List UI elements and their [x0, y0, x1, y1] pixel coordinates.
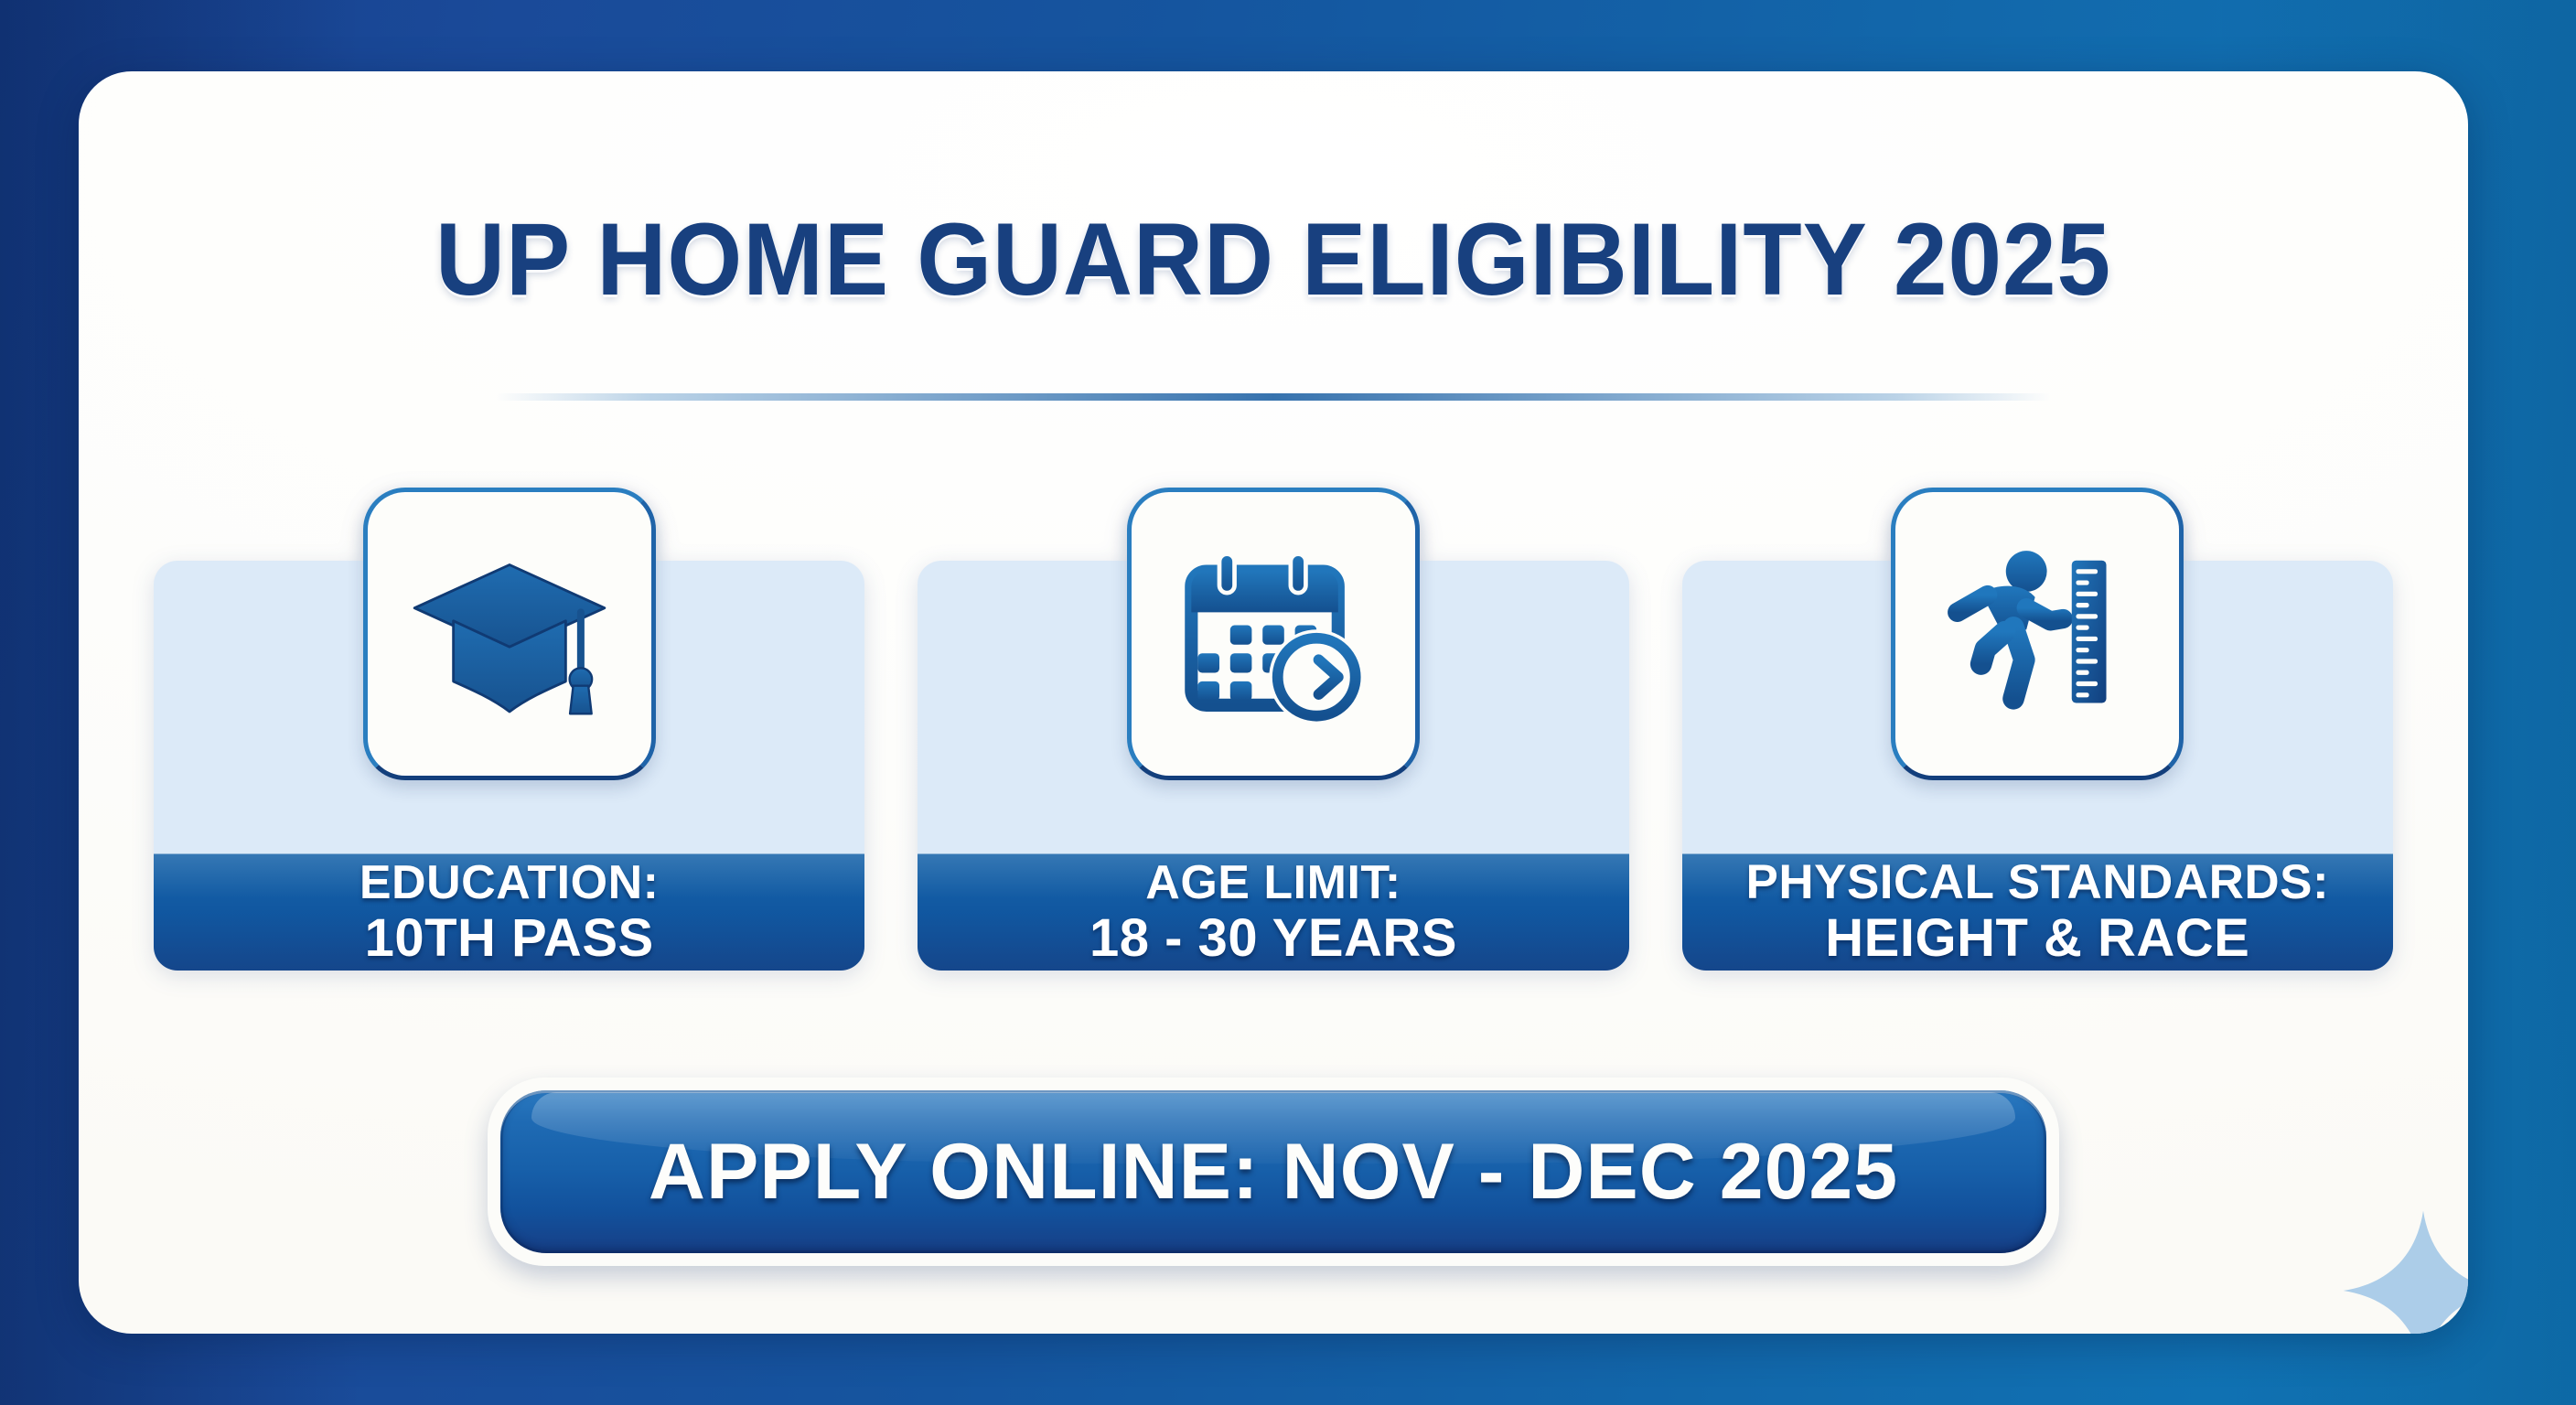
graduation-cap-icon [363, 488, 656, 780]
eligibility-card-physical-standards[interactable]: PHYSICAL STANDARDS: HEIGHT & RACE [1682, 561, 2393, 971]
content-sheet: UP HOME GUARD ELIGIBILITY 2025 [79, 71, 2468, 1334]
card-label-physical-standards: PHYSICAL STANDARDS: HEIGHT & RACE [1682, 853, 2393, 971]
card-label-education: EDUCATION: 10TH PASS [154, 853, 864, 971]
card-label-line1: EDUCATION: [360, 856, 660, 909]
card-label-line2: 18 - 30 YEARS [1089, 909, 1457, 969]
apply-online-button[interactable]: APPLY ONLINE: NOV - DEC 2025 [500, 1090, 2046, 1253]
sparkle-icon [2336, 1204, 2468, 1334]
apply-online-button-label: APPLY ONLINE: NOV - DEC 2025 [649, 1127, 1898, 1217]
eligibility-card-row: EDUCATION: 10TH PASS [154, 561, 2393, 971]
card-label-age-limit: AGE LIMIT: 18 - 30 YEARS [918, 853, 1628, 971]
card-label-line2: 10TH PASS [365, 909, 654, 969]
poster-canvas: UP HOME GUARD ELIGIBILITY 2025 [0, 0, 2576, 1405]
calendar-arrow-icon [1127, 488, 1420, 780]
eligibility-card-age-limit[interactable]: AGE LIMIT: 18 - 30 YEARS [918, 561, 1628, 971]
page-title: UP HOME GUARD ELIGIBILITY 2025 [150, 209, 2396, 311]
card-label-line2: HEIGHT & RACE [1825, 909, 2249, 969]
card-label-line1: AGE LIMIT: [1145, 856, 1401, 909]
card-label-line1: PHYSICAL STANDARDS: [1745, 855, 2329, 909]
running-person-ruler-icon [1891, 488, 2184, 780]
apply-online-button-frame: APPLY ONLINE: NOV - DEC 2025 [488, 1078, 2059, 1266]
title-divider [496, 393, 2051, 401]
eligibility-card-education[interactable]: EDUCATION: 10TH PASS [154, 561, 864, 971]
